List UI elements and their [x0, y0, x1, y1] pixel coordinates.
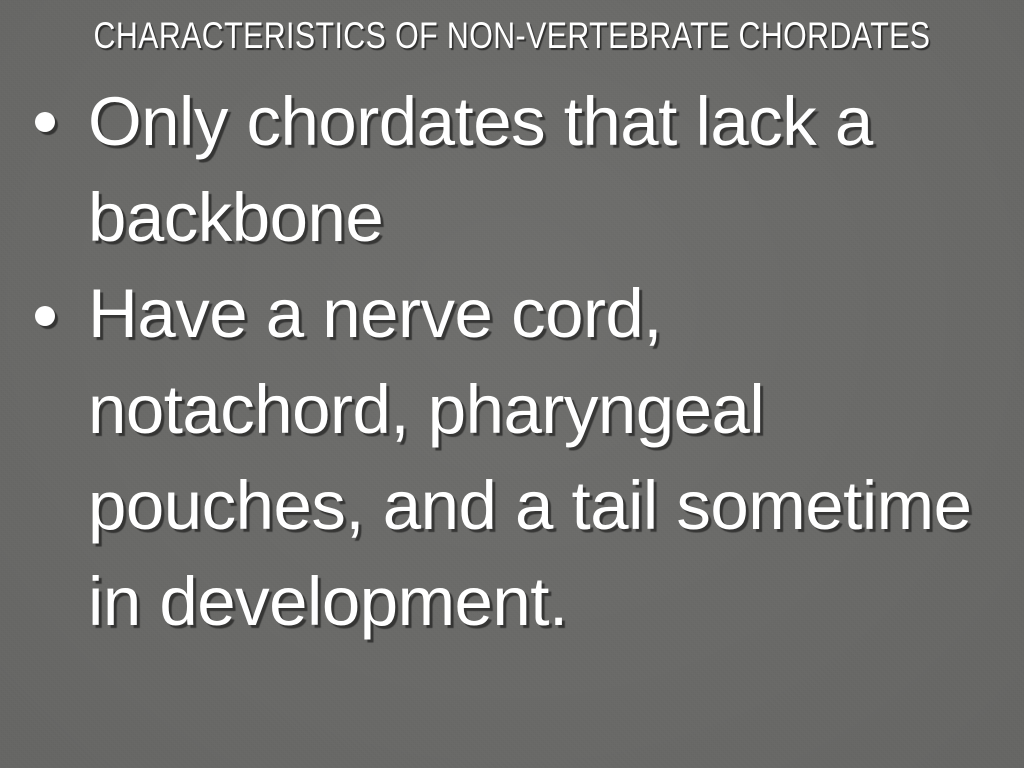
bullet-point-icon	[35, 112, 55, 132]
bullet-list: Only chordates that lack a backbone Have…	[0, 74, 1024, 650]
slide-canvas: CHARACTERISTICS OF NON-VERTEBRATE CHORDA…	[0, 0, 1024, 768]
list-item-label: Only chordates that lack a backbone	[88, 74, 978, 266]
list-item-label: Have a nerve cord, notachord, pharyngeal…	[88, 266, 978, 650]
page-title: CHARACTERISTICS OF NON-VERTEBRATE CHORDA…	[92, 17, 932, 54]
list-item: Only chordates that lack a backbone	[0, 74, 1024, 266]
bullet-point-icon	[35, 306, 55, 326]
list-item: Have a nerve cord, notachord, pharyngeal…	[0, 266, 1024, 650]
